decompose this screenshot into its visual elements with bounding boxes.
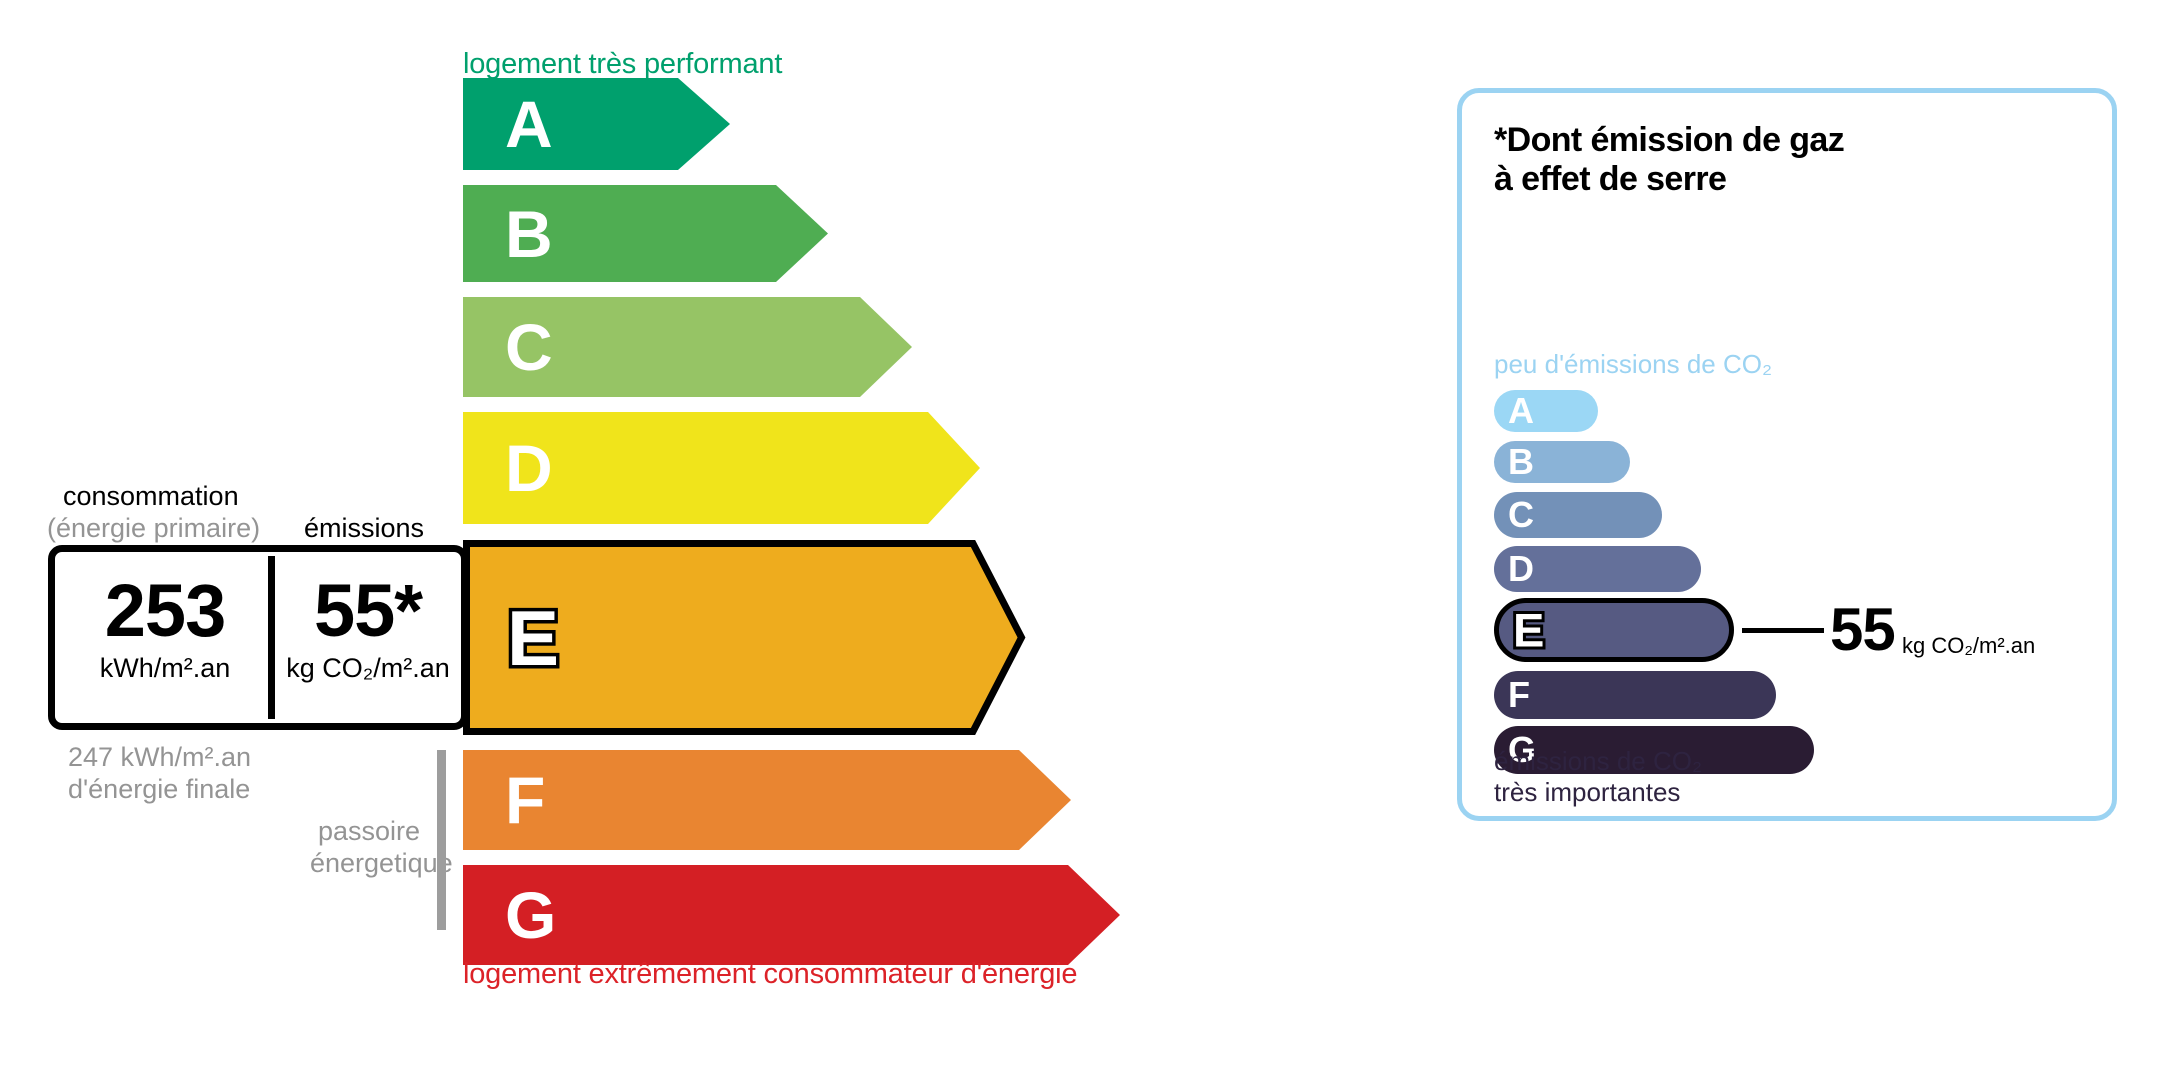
co2-bar-letter-e: E [1513, 607, 1544, 654]
co2-title-line2: à effet de serre [1494, 160, 1726, 198]
passoire-energetique-label: passoire énergetique [310, 816, 420, 880]
energy-band-b: B [463, 185, 828, 282]
co2-bar-e: E [1494, 598, 1734, 662]
energy-bottom-caption: logement extrêmement consommateur d'éner… [463, 958, 1077, 991]
energy-band-shape-f [463, 750, 1071, 850]
co2-emissions-panel: *Dont émission de gaz à effet de serre p… [1457, 88, 2117, 821]
label-consommation-sub: (énergie primaire) [47, 513, 260, 544]
energy-band-letter-b: B [505, 201, 553, 267]
final-energy-note: 247 kWh/m².an d'énergie finale [68, 742, 251, 806]
emissions-cell: 55* kg CO₂/m².an [275, 574, 461, 684]
energy-band-g: G [463, 865, 1120, 965]
energy-band-d: D [463, 412, 980, 524]
value-box-divider [268, 556, 275, 719]
final-energy-label: d'énergie finale [68, 774, 250, 804]
consumption-value: 253 [55, 574, 275, 648]
label-emissions: émissions [304, 513, 424, 544]
co2-bar-letter-d: D [1508, 551, 1534, 587]
energy-band-letter-d: D [505, 435, 553, 501]
co2-value: 55 [1830, 600, 1895, 660]
passoire-line2: énergetique [310, 848, 453, 878]
co2-bottom-caption: émissions de CO₂ très importantes [1494, 746, 1702, 807]
energy-top-caption: logement très performant [463, 48, 782, 81]
co2-title-line1: *Dont émission de gaz [1494, 121, 1844, 159]
emissions-value: 55* [275, 574, 461, 648]
energy-band-e: E [463, 540, 1025, 735]
co2-panel-title: *Dont émission de gaz à effet de serre [1494, 121, 1844, 199]
co2-bottom-line1: émissions de CO₂ [1494, 746, 1702, 776]
energy-band-letter-c: C [505, 314, 553, 380]
co2-value-unit: kg CO₂/m².an [1902, 635, 2035, 657]
label-consommation: consommation [63, 481, 239, 512]
energy-band-letter-f: F [505, 767, 545, 833]
passoire-line1: passoire [318, 816, 420, 846]
energy-band-shape-a [463, 78, 730, 170]
co2-top-caption: peu d'émissions de CO₂ [1494, 349, 1772, 380]
final-energy-value: 247 kWh/m².an [68, 742, 251, 772]
passoire-marker-bar [437, 750, 446, 930]
co2-leader-line [1742, 628, 1824, 633]
co2-bar-d: D [1494, 546, 1701, 592]
energy-band-shape-g [463, 865, 1120, 965]
energy-band-f: F [463, 750, 1071, 850]
energy-band-letter-e: E [507, 599, 559, 677]
co2-bar-letter-a: A [1508, 393, 1534, 429]
energy-band-c: C [463, 297, 912, 397]
energy-band-letter-a: A [505, 91, 553, 157]
co2-bar-letter-f: F [1508, 677, 1530, 713]
consumption-unit: kWh/m².an [55, 652, 275, 684]
energy-band-letter-g: G [505, 882, 556, 948]
co2-bottom-line2: très importantes [1494, 777, 1680, 807]
co2-bar-letter-b: B [1508, 444, 1534, 480]
co2-bar-f: F [1494, 671, 1776, 719]
energy-band-a: A [463, 78, 730, 170]
co2-bar-letter-c: C [1508, 497, 1534, 533]
co2-bar-a: A [1494, 390, 1598, 432]
consumption-value-box: 253 kWh/m².an 55* kg CO₂/m².an [48, 545, 468, 730]
emissions-unit: kg CO₂/m².an [275, 652, 461, 684]
consumption-cell: 253 kWh/m².an [55, 574, 275, 684]
co2-bar-c: C [1494, 492, 1662, 538]
co2-bar-b: B [1494, 441, 1630, 483]
energy-performance-chart: logement très performant ABCDEFG consomm… [0, 0, 1290, 1079]
